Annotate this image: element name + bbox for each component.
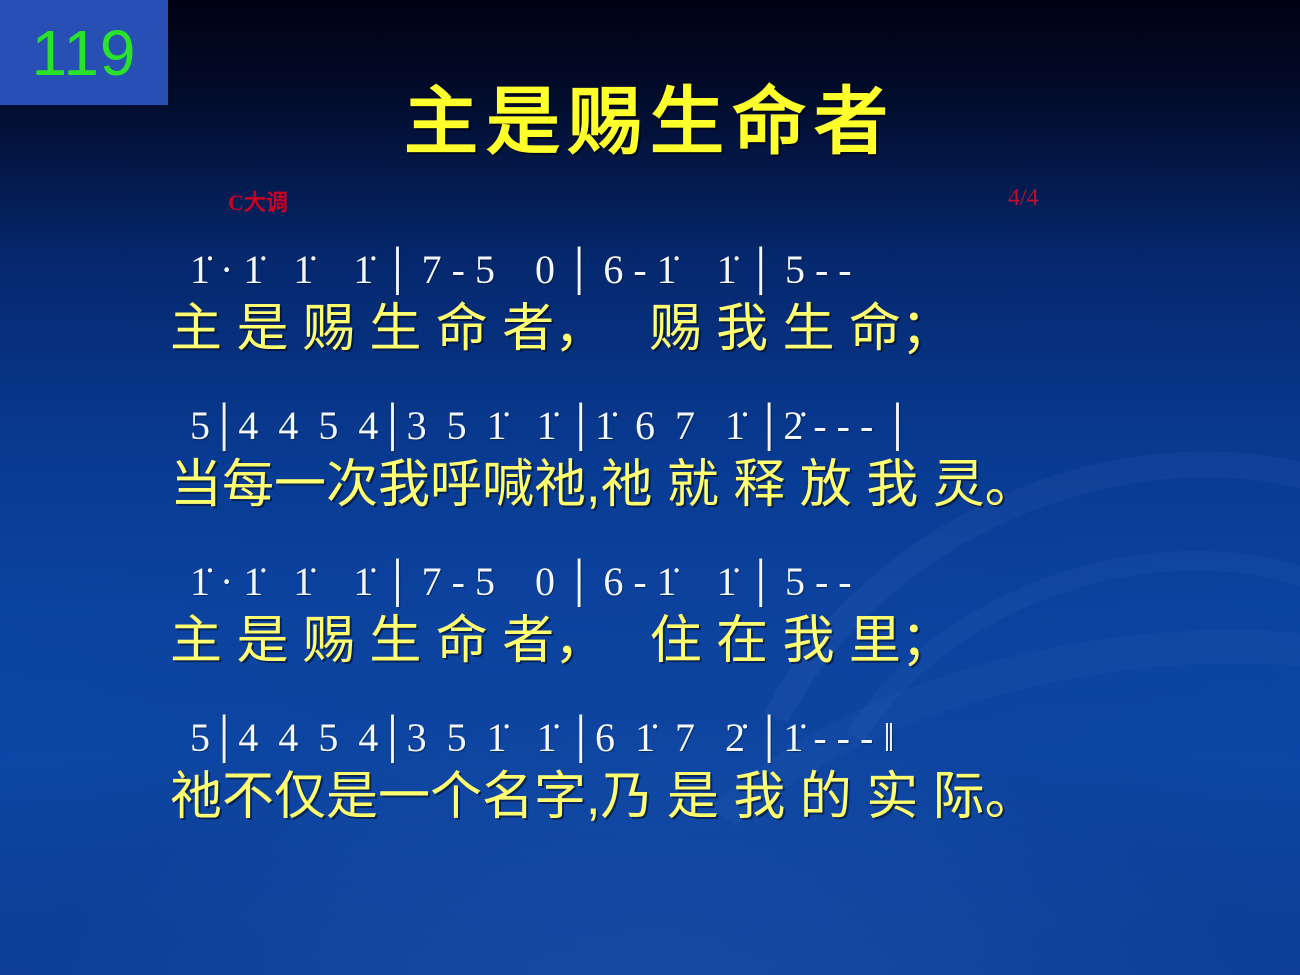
stanza-1: 1̇ · 1̇ 1̇ 1̇ │ 7 - 5 0 │ 6 - 1̇ 1̇ │ 5 … — [0, 228, 1300, 368]
stanza-4: 5│4 4 5 4│3 5 1̇ 1̇ │6 1̇ 7 2̇ │1̇ - - -… — [0, 696, 1300, 836]
notation-line: 1̇ · 1̇ 1̇ 1̇ │ 7 - 5 0 │ 6 - 1̇ 1̇ │ 5 … — [0, 540, 1300, 602]
notation-line: 5│4 4 5 4│3 5 1̇ 1̇ │6 1̇ 7 2̇ │1̇ - - -… — [0, 696, 1300, 758]
stanza-3: 1̇ · 1̇ 1̇ 1̇ │ 7 - 5 0 │ 6 - 1̇ 1̇ │ 5 … — [0, 540, 1300, 680]
score-body: 1̇ · 1̇ 1̇ 1̇ │ 7 - 5 0 │ 6 - 1̇ 1̇ │ 5 … — [0, 228, 1300, 852]
hymn-slide: 119 主是赐生命者 C大调 4/4 1̇ · 1̇ 1̇ 1̇ │ 7 - 5… — [0, 0, 1300, 975]
notation-line: 5│4 4 5 4│3 5 1̇ 1̇ │1̇ 6 7 1̇ │2̇ - - -… — [0, 384, 1300, 446]
page-number: 119 — [31, 21, 136, 85]
lyrics-line: 主 是 赐 生 命 者， 赐 我 生 命； — [0, 290, 1300, 368]
lyrics-line: 祂不仅是一个名字,乃 是 我 的 实 际。 — [0, 758, 1300, 836]
page-number-badge: 119 — [0, 0, 168, 105]
page-title: 主是赐生命者 — [0, 62, 1300, 169]
stanza-2: 5│4 4 5 4│3 5 1̇ 1̇ │1̇ 6 7 1̇ │2̇ - - -… — [0, 384, 1300, 524]
lyrics-line: 主 是 赐 生 命 者， 住 在 我 里； — [0, 602, 1300, 680]
time-signature: 4/4 — [1008, 185, 1039, 212]
key-signature: C大调 — [228, 185, 288, 217]
notation-line: 1̇ · 1̇ 1̇ 1̇ │ 7 - 5 0 │ 6 - 1̇ 1̇ │ 5 … — [0, 228, 1300, 290]
score-metadata-row: C大调 4/4 — [0, 185, 1300, 215]
lyrics-line: 当每一次我呼喊祂,祂 就 释 放 我 灵。 — [0, 446, 1300, 524]
